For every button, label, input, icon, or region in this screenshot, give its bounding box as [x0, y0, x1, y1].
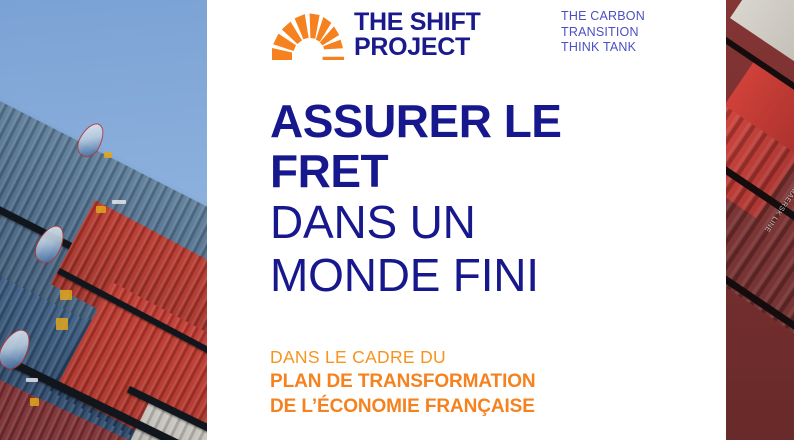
title-line-2: FRET [270, 146, 561, 196]
subtitle-line-1: PLAN DE TRANSFORMATION [270, 369, 536, 394]
container-marking [60, 290, 72, 300]
shipping-containers-photo-right: MAERSK LINE [726, 0, 794, 440]
logo-line-2: PROJECT [354, 35, 480, 60]
sunburst-icon [270, 8, 346, 62]
tagline-line-2: TRANSITION [561, 25, 645, 41]
title-line-4: MONDE FINI [270, 249, 561, 302]
page-title: ASSURER LE FRET DANS UN MONDE FINI [270, 96, 561, 302]
title-line-1: ASSURER LE [270, 96, 561, 146]
container-marking [30, 398, 39, 406]
title-line-3: DANS UN [270, 196, 561, 249]
container-marking [104, 152, 112, 158]
shift-project-logo[interactable]: THE SHIFT PROJECT [270, 8, 480, 62]
container-marking [112, 200, 126, 204]
tagline-line-1: THE CARBON [561, 9, 645, 25]
container-marking [26, 378, 38, 382]
container-marking [96, 206, 106, 213]
container-marking [56, 318, 68, 330]
tagline: THE CARBON TRANSITION THINK TANK [561, 9, 645, 56]
center-white-panel: THE SHIFT PROJECT THE CARBON TRANSITION … [207, 0, 726, 440]
subtitle-block: DANS LE CADRE DU PLAN DE TRANSFORMATION … [270, 345, 536, 419]
subtitle-kicker: DANS LE CADRE DU [270, 345, 536, 369]
logo-wordmark: THE SHIFT PROJECT [354, 10, 480, 60]
shipping-containers-photo-left [0, 0, 207, 440]
cover-page: THE SHIFT PROJECT THE CARBON TRANSITION … [0, 0, 794, 440]
subtitle-line-2: DE L’ÉCONOMIE FRANÇAISE [270, 394, 536, 419]
logo-line-1: THE SHIFT [354, 10, 480, 35]
tagline-line-3: THINK TANK [561, 40, 645, 56]
